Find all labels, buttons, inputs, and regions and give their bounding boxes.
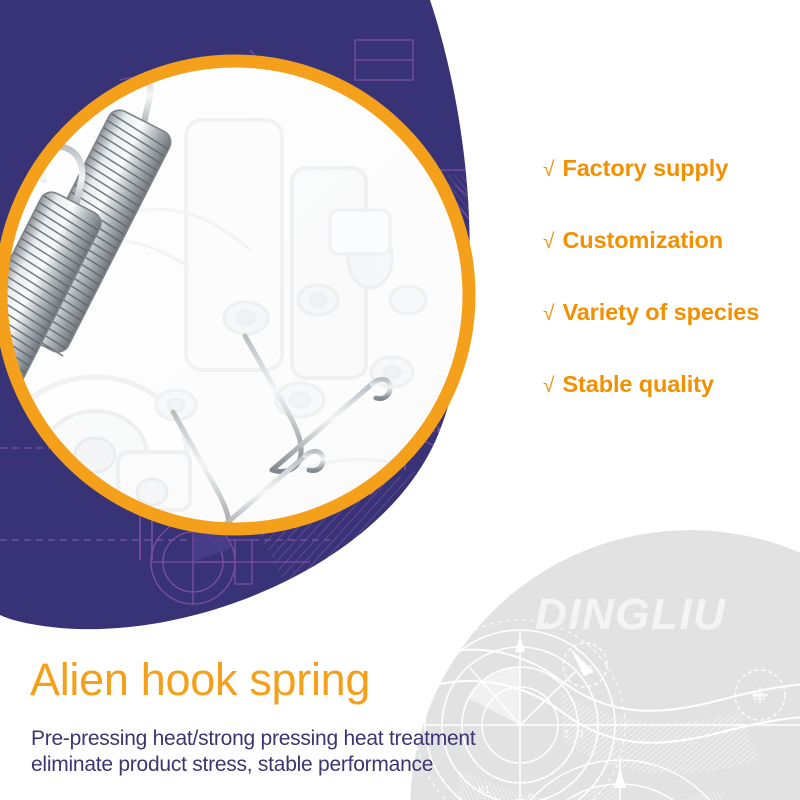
check-icon: √	[543, 374, 554, 398]
product-title: Alien hook spring	[30, 654, 370, 706]
feature-label: Variety of species	[562, 299, 759, 326]
check-icon: √	[543, 302, 554, 326]
feature-item-variety-of-species: √ Variety of species	[543, 299, 793, 371]
feature-label: Stable quality	[562, 371, 713, 398]
marketing-banner: 2 -1 K0 K1 1 d m	[0, 0, 800, 800]
feature-item-customization: √ Customization	[543, 227, 793, 299]
check-icon: √	[543, 158, 554, 182]
feature-label: Factory supply	[562, 155, 728, 182]
feature-label: Customization	[562, 227, 723, 254]
feature-item-factory-supply: √ Factory supply	[543, 155, 793, 227]
feature-item-stable-quality: √ Stable quality	[543, 371, 793, 443]
check-icon: √	[543, 230, 554, 254]
product-description: Pre-pressing heat/strong pressing heat t…	[31, 726, 475, 777]
feature-list: √ Factory supply √ Customization √ Varie…	[543, 155, 793, 443]
